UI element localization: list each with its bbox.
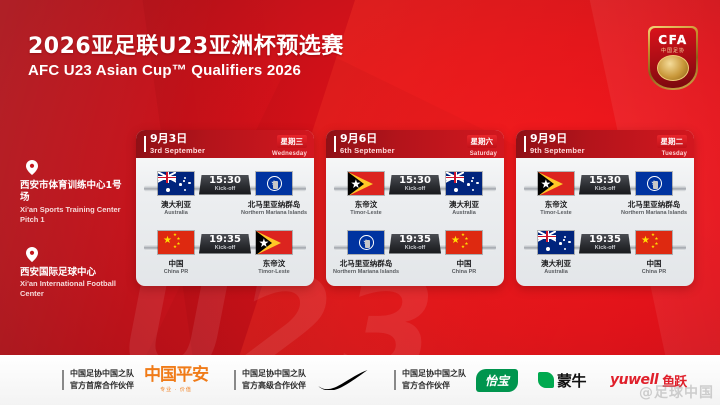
- match-schedule: 9月3日 3rd September 星期三 Wednesday 15:30 K…: [136, 130, 694, 286]
- match-row[interactable]: ★ 19:35 Kick-off ★★★★★ 北马里亚纳群岛 Northern …: [326, 224, 504, 282]
- day-of-week-english: Wednesday: [272, 151, 307, 157]
- away-team-zh: 澳大利亚: [425, 200, 503, 209]
- kickoff-time: 19:35: [209, 235, 241, 245]
- yibao-logo: 怡宝: [476, 369, 518, 392]
- away-team-name: 中国 China PR: [615, 259, 693, 276]
- home-team-en: Northern Mariana Islands: [327, 269, 405, 276]
- pingan-logo-text: 中国平安: [144, 367, 208, 384]
- away-team-en: Australia: [425, 210, 503, 217]
- venue-list: 西安市体育训练中心1号场 Xi'an Sports Training Cente…: [8, 160, 128, 321]
- sponsor-tier-line2: 官方高级合作伙伴: [242, 380, 306, 392]
- flag-australia: [537, 230, 575, 255]
- date-chinese: 9月9日: [530, 133, 585, 144]
- cfa-crest-emblem: [657, 55, 689, 81]
- sponsor-footer: 中国足协中国之队 官方首席合作伙伴 中国平安 专业 · 价值 中国足协中国之队 …: [0, 355, 720, 405]
- match-row[interactable]: ★ 15:30 Kick-off 东帝汶 Timor-Leste 澳大利亚 Au…: [326, 165, 504, 223]
- away-team-zh: 东帝汶: [235, 259, 313, 268]
- venue-name-english: Xi'an Sports Training Center Pitch 1: [8, 205, 128, 225]
- home-team-en: Australia: [137, 210, 215, 217]
- day-of-week-english: Tuesday: [657, 151, 688, 157]
- away-team-en: Timor-Leste: [235, 269, 313, 276]
- cfa-logo: CFA 中国足协: [648, 26, 698, 90]
- home-team-name: 中国 China PR: [137, 259, 215, 276]
- away-team-en: Northern Mariana Islands: [615, 210, 693, 217]
- flag-china: ★★★★★: [157, 230, 195, 255]
- kickoff-time: 15:30: [209, 176, 241, 186]
- cfa-logo-text: CFA: [650, 33, 696, 47]
- card-date-header: 9月9日 9th September 星期二 Tuesday: [516, 130, 694, 158]
- match-day-card[interactable]: 9月3日 3rd September 星期三 Wednesday 15:30 K…: [136, 130, 314, 286]
- card-matches: ★ 15:30 Kick-off 东帝汶 Timor-Leste 澳大利亚 Au…: [326, 158, 504, 286]
- home-team-name: 北马里亚纳群岛 Northern Mariana Islands: [327, 259, 405, 276]
- away-team-name: 北马里亚纳群岛 Northern Mariana Islands: [615, 200, 693, 217]
- away-team-name: 北马里亚纳群岛 Northern Mariana Islands: [235, 200, 313, 217]
- sponsor-yibao: 中国足协中国之队 官方合作伙伴 怡宝: [394, 368, 518, 391]
- day-of-week-english: Saturday: [467, 151, 498, 157]
- kickoff-label: Kick-off: [595, 246, 615, 252]
- sponsor-pingan: 中国足协中国之队 官方首席合作伙伴 中国平安 专业 · 价值: [62, 367, 208, 393]
- sponsor-tier-text: 中国足协中国之队 官方合作伙伴: [394, 368, 466, 391]
- home-team-name: 澳大利亚 Australia: [137, 200, 215, 217]
- home-team-zh: 中国: [137, 259, 215, 268]
- away-team-en: Northern Mariana Islands: [235, 210, 313, 217]
- kickoff-time: 19:35: [589, 235, 621, 245]
- pingan-logo: 中国平安 专业 · 价值: [144, 367, 208, 393]
- flag-timor-leste: ★: [537, 171, 575, 196]
- sponsor-tier-line1: 中国足协中国之队: [242, 368, 306, 380]
- map-pin-icon: [26, 247, 38, 262]
- flag-australia: [445, 171, 483, 196]
- day-of-week-chinese: 星期六: [467, 135, 498, 148]
- card-date-header: 9月3日 3rd September 星期三 Wednesday: [136, 130, 314, 158]
- date-block: 9月6日 6th September: [334, 133, 395, 155]
- kickoff-badge: 19:35 Kick-off: [389, 234, 441, 254]
- date-english: 3rd September: [150, 147, 205, 155]
- pingan-logo-subtext: 专业 · 价值: [144, 386, 208, 393]
- away-team-name: 中国 China PR: [425, 259, 503, 276]
- mengniu-logo-text: 蒙牛: [557, 370, 586, 391]
- match-row[interactable]: ★ 15:30 Kick-off ★ 东帝汶 Timor-Leste 北马里亚纳…: [516, 165, 694, 223]
- home-team-zh: 东帝汶: [327, 200, 405, 209]
- kickoff-label: Kick-off: [595, 187, 615, 193]
- away-team-zh: 中国: [615, 259, 693, 268]
- kickoff-badge: 15:30 Kick-off: [199, 175, 251, 195]
- match-day-card[interactable]: 9月9日 9th September 星期二 Tuesday ★ 15:30 K…: [516, 130, 694, 286]
- flag-timor-leste: ★: [255, 230, 293, 255]
- date-block: 9月3日 3rd September: [144, 133, 205, 155]
- venue-item: 西安国际足球中心 Xi'an International Football Ce…: [8, 247, 128, 300]
- match-day-card[interactable]: 9月6日 6th September 星期六 Saturday ★ 15:30 …: [326, 130, 504, 286]
- flag-china: ★★★★★: [635, 230, 673, 255]
- sponsor-tier-line2: 官方首席合作伙伴: [70, 380, 134, 392]
- cfa-logo-subtext: 中国足协: [650, 47, 696, 54]
- card-matches: ★ 15:30 Kick-off ★ 东帝汶 Timor-Leste 北马里亚纳…: [516, 158, 694, 286]
- home-team-en: Timor-Leste: [327, 210, 405, 217]
- date-chinese: 9月6日: [340, 133, 395, 144]
- home-team-zh: 澳大利亚: [517, 259, 595, 268]
- match-row[interactable]: ★★★★★ 19:35 Kick-off ★ 中国 China PR 东帝汶 T…: [136, 224, 314, 282]
- kickoff-time: 19:35: [399, 235, 431, 245]
- away-team-zh: 北马里亚纳群岛: [615, 200, 693, 209]
- page-title-english: AFC U23 Asian Cup™ Qualifiers 2026: [28, 62, 301, 79]
- home-team-zh: 东帝汶: [517, 200, 595, 209]
- kickoff-time: 15:30: [399, 176, 431, 186]
- home-team-en: Australia: [517, 269, 595, 276]
- mengniu-logo: 蒙牛: [538, 370, 586, 391]
- nike-swoosh-icon: [316, 370, 368, 390]
- kickoff-label: Kick-off: [215, 246, 235, 252]
- sponsor-tier-line1: 中国足协中国之队: [402, 368, 466, 380]
- flag-australia: [157, 171, 195, 196]
- kickoff-badge: 19:35 Kick-off: [199, 234, 251, 254]
- day-of-week-chinese: 星期二: [657, 135, 688, 148]
- date-english: 9th September: [530, 147, 585, 155]
- flag-northern-mariana-islands: ★: [255, 171, 293, 196]
- venue-name-chinese: 西安国际足球中心: [8, 267, 128, 279]
- away-team-en: China PR: [615, 269, 693, 276]
- day-of-week: 星期六 Saturday: [467, 131, 498, 157]
- home-team-en: Timor-Leste: [517, 210, 595, 217]
- kickoff-label: Kick-off: [405, 187, 425, 193]
- card-date-header: 9月6日 6th September 星期六 Saturday: [326, 130, 504, 158]
- flag-china: ★★★★★: [445, 230, 483, 255]
- day-of-week: 星期三 Wednesday: [272, 131, 307, 157]
- match-row[interactable]: 19:35 Kick-off ★★★★★ 澳大利亚 Australia 中国 C…: [516, 224, 694, 282]
- kickoff-badge: 15:30 Kick-off: [389, 175, 441, 195]
- home-team-name: 东帝汶 Timor-Leste: [327, 200, 405, 217]
- home-team-en: China PR: [137, 269, 215, 276]
- cfa-crest-inner: CFA 中国足协: [650, 28, 696, 88]
- venue-name-english: Xi'an International Football Center: [8, 279, 128, 299]
- home-team-name: 东帝汶 Timor-Leste: [517, 200, 595, 217]
- away-team-name: 东帝汶 Timor-Leste: [235, 259, 313, 276]
- venue-item: 西安市体育训练中心1号场 Xi'an Sports Training Cente…: [8, 160, 128, 225]
- sponsor-tier-text: 中国足协中国之队 官方高级合作伙伴: [234, 368, 306, 391]
- away-team-zh: 中国: [425, 259, 503, 268]
- flag-northern-mariana-islands: ★: [347, 230, 385, 255]
- home-team-zh: 澳大利亚: [137, 200, 215, 209]
- flag-northern-mariana-islands: ★: [635, 171, 673, 196]
- kickoff-badge: 15:30 Kick-off: [579, 175, 631, 195]
- away-team-name: 澳大利亚 Australia: [425, 200, 503, 217]
- page-header: 2026亚足联U23亚洲杯预选赛 AFC U23 Asian Cup™ Qual…: [0, 0, 720, 100]
- page-title-chinese: 2026亚足联U23亚洲杯预选赛: [28, 28, 344, 60]
- day-of-week: 星期二 Tuesday: [657, 131, 688, 157]
- map-pin-icon: [26, 160, 38, 175]
- kickoff-label: Kick-off: [215, 187, 235, 193]
- sponsor-tier-text: 中国足协中国之队 官方首席合作伙伴: [62, 368, 134, 391]
- date-english: 6th September: [340, 147, 395, 155]
- date-block: 9月9日 9th September: [524, 133, 585, 155]
- source-watermark: @足球中国: [639, 382, 714, 402]
- home-team-zh: 北马里亚纳群岛: [327, 259, 405, 268]
- kickoff-badge: 19:35 Kick-off: [579, 234, 631, 254]
- sponsor-nike: 中国足协中国之队 官方高级合作伙伴: [234, 368, 368, 391]
- sponsor-tier-line2: 官方合作伙伴: [402, 380, 466, 392]
- match-row[interactable]: 15:30 Kick-off ★ 澳大利亚 Australia 北马里亚纳群岛 …: [136, 165, 314, 223]
- flag-timor-leste: ★: [347, 171, 385, 196]
- card-matches: 15:30 Kick-off ★ 澳大利亚 Australia 北马里亚纳群岛 …: [136, 158, 314, 286]
- venue-name-chinese: 西安市体育训练中心1号场: [8, 180, 128, 204]
- sponsor-tier-line1: 中国足协中国之队: [70, 368, 134, 380]
- cfa-crest-shield: CFA 中国足协: [648, 26, 698, 90]
- day-of-week-chinese: 星期三: [277, 135, 308, 148]
- home-team-name: 澳大利亚 Australia: [517, 259, 595, 276]
- away-team-zh: 北马里亚纳群岛: [235, 200, 313, 209]
- mengniu-mark-icon: [538, 372, 554, 388]
- away-team-en: China PR: [425, 269, 503, 276]
- date-chinese: 9月3日: [150, 133, 205, 144]
- kickoff-label: Kick-off: [405, 246, 425, 252]
- kickoff-time: 15:30: [589, 176, 621, 186]
